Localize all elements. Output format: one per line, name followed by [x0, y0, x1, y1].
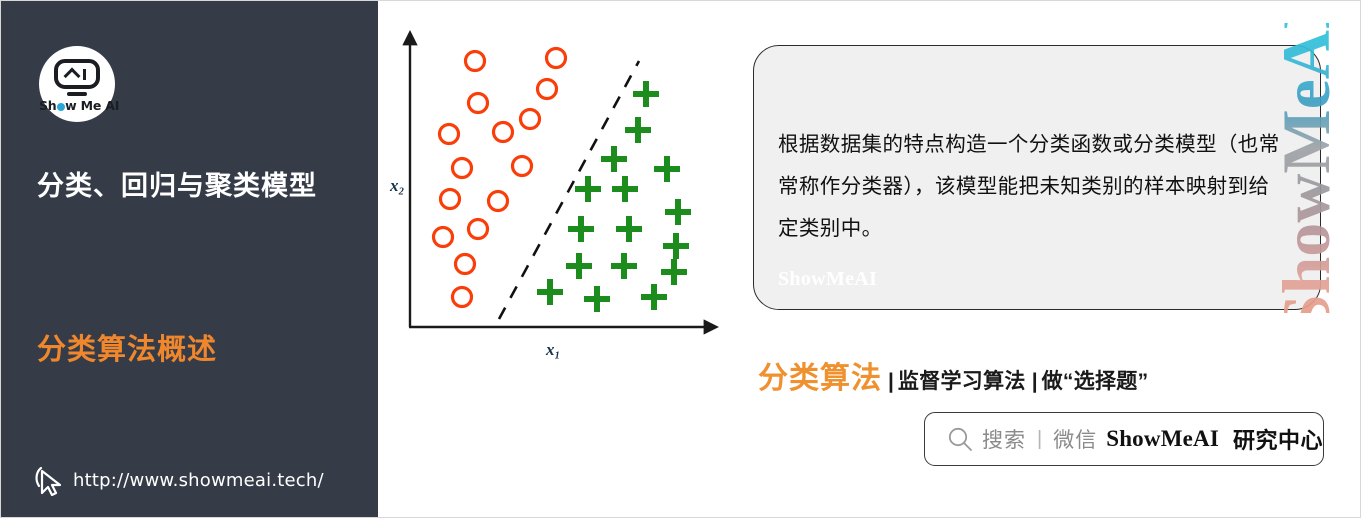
data-point-o	[440, 125, 459, 144]
data-point-o	[538, 80, 557, 99]
data-point-o	[441, 190, 460, 209]
footer-separator-2: |	[1032, 370, 1038, 394]
search-placeholder: 搜索	[982, 424, 1026, 454]
footer-sub-label-2: 做“选择题”	[1042, 365, 1149, 395]
data-point-plus	[661, 259, 687, 285]
search-channel: 微信	[1053, 424, 1097, 454]
wechat-search-bar[interactable]: 搜索 | 微信 ShowMeAI 研究中心	[924, 412, 1324, 466]
data-point-o	[456, 255, 475, 274]
search-icon	[947, 426, 973, 452]
caret-up-icon	[64, 68, 81, 85]
bar-icon	[83, 69, 86, 80]
data-point-plus	[654, 156, 680, 182]
data-point-o	[469, 220, 488, 239]
scatter-svg: x₂ x₁	[386, 21, 731, 361]
data-point-plus	[601, 146, 627, 172]
site-url-row[interactable]: http://www.showmeai.tech/	[33, 464, 324, 496]
data-point-plus	[568, 216, 594, 242]
robot-neck-icon	[67, 92, 87, 96]
site-url-text: http://www.showmeai.tech/	[73, 470, 324, 491]
x-axis-label: x₁	[545, 340, 560, 359]
search-brand-cn: 研究中心	[1233, 423, 1323, 455]
logo-wordmark-pre: Sh	[39, 98, 57, 113]
data-point-o	[453, 159, 472, 178]
footer-main-label: 分类算法	[758, 353, 882, 397]
card-watermark: ShowMeAI	[778, 268, 877, 291]
data-point-plus	[616, 216, 642, 242]
search-divider: |	[1037, 428, 1042, 451]
slide-canvas: Shw Me AI 分类、回归与聚类模型 分类算法概述 http://www.s…	[0, 0, 1361, 518]
logo-wordmark-post: w Me AI	[65, 98, 119, 113]
data-point-plus	[665, 199, 691, 225]
data-point-o	[466, 52, 485, 71]
data-point-o	[469, 94, 488, 113]
footer-separator-1: |	[888, 370, 894, 394]
y-axis-label: x₂	[389, 176, 405, 195]
data-point-o	[489, 192, 508, 211]
page-subtitle: 分类算法概述	[37, 326, 217, 368]
data-point-plus	[612, 176, 638, 202]
data-point-o	[513, 157, 532, 176]
data-point-plus	[641, 284, 667, 310]
data-point-plus	[584, 286, 610, 312]
data-point-o	[434, 228, 453, 247]
description-text: 根据数据集的特点构造一个分类函数或分类模型（也常常称作分类器），该模型能把未知类…	[778, 124, 1288, 250]
data-point-plus	[566, 253, 592, 279]
data-point-o	[494, 123, 513, 142]
mouse-pointer-icon	[33, 464, 63, 496]
data-point-plus	[611, 253, 637, 279]
showmeai-logo[interactable]: Shw Me AI	[39, 46, 115, 122]
robot-face-icon	[54, 59, 100, 89]
data-point-o	[521, 110, 540, 129]
page-title: 分类、回归与聚类模型	[37, 164, 317, 203]
data-point-o	[547, 49, 566, 68]
data-point-plus	[663, 233, 689, 259]
description-card: 根据数据集的特点构造一个分类函数或分类模型（也常常称作分类器），该模型能把未知类…	[753, 45, 1321, 310]
classification-scatter-figure: x₂ x₁	[386, 21, 731, 361]
class-plus-points	[537, 81, 691, 312]
class-o-points	[434, 49, 566, 307]
logo-wordmark: Shw Me AI	[39, 98, 115, 113]
sidebar: Shw Me AI 分类、回归与聚类模型 分类算法概述 http://www.s…	[1, 1, 378, 518]
search-brand: ShowMeAI	[1106, 426, 1219, 452]
logo-dot-icon	[57, 103, 65, 111]
data-point-plus	[633, 81, 659, 107]
data-point-plus	[537, 279, 563, 305]
data-point-o	[453, 288, 472, 307]
data-point-plus	[625, 117, 651, 143]
footer-tagline: 分类算法 | 监督学习算法 | 做“选择题”	[758, 353, 1148, 397]
data-point-plus	[575, 176, 601, 202]
footer-sub-label-1: 监督学习算法	[898, 365, 1026, 395]
